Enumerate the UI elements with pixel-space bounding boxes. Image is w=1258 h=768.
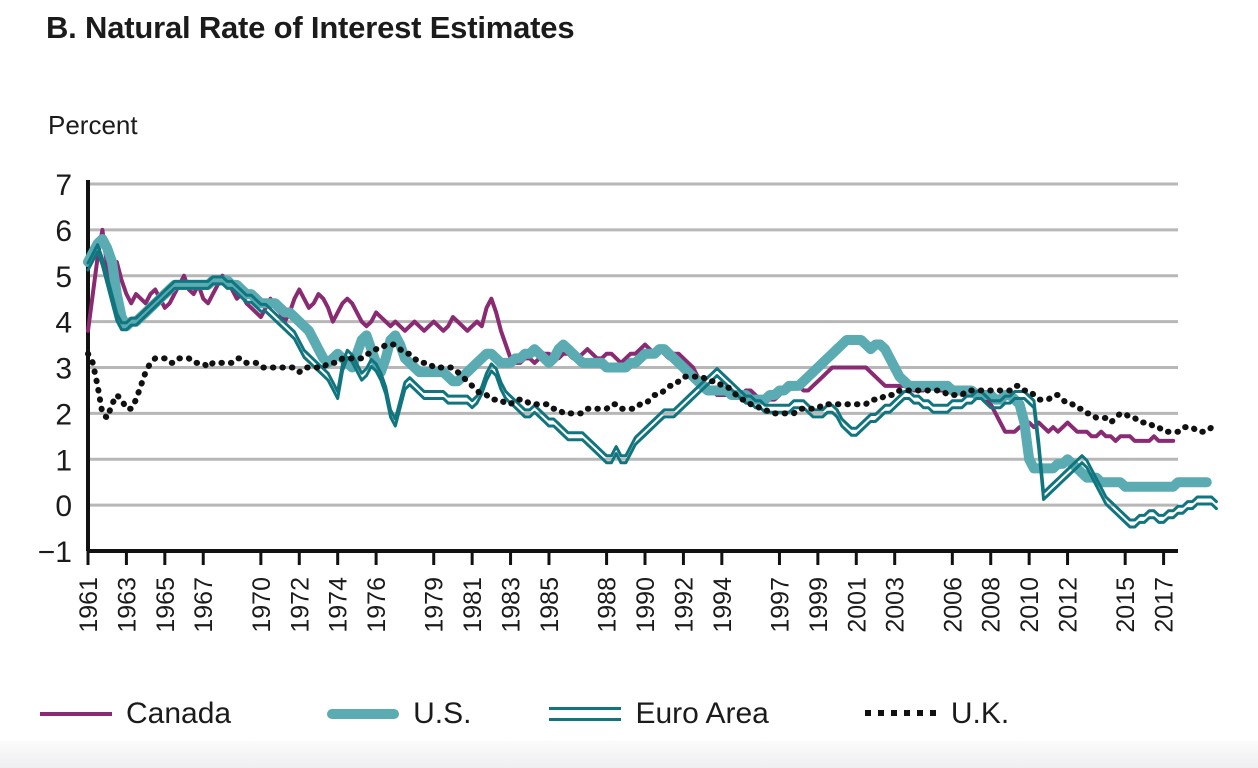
legend-swatch-us-icon xyxy=(327,701,399,727)
x-tick-label: 1970 xyxy=(248,577,276,633)
y-tick-label: −1 xyxy=(38,536,72,569)
x-tick-label: 2006 xyxy=(939,577,967,633)
x-tick-label: 1981 xyxy=(459,577,487,633)
x-tick-label: 2012 xyxy=(1055,577,1083,633)
legend-item-euro_area[interactable]: Euro Area xyxy=(549,697,768,731)
plot-area: −101234567196119631965196719701972197419… xyxy=(0,0,1258,741)
x-tick-label: 1961 xyxy=(75,577,103,633)
x-tick-label: 1965 xyxy=(152,577,180,633)
x-tick-label: 2015 xyxy=(1112,577,1140,633)
line-chart: −101234567196119631965196719701972197419… xyxy=(0,0,1258,700)
x-tick-label: 1994 xyxy=(709,577,737,633)
y-tick-label: 6 xyxy=(55,215,72,248)
legend-item-uk[interactable]: U.K. xyxy=(865,697,1009,731)
legend-label-euro_area: Euro Area xyxy=(635,697,768,731)
x-tick-label: 1983 xyxy=(498,577,526,633)
legend-label-canada: Canada xyxy=(126,697,231,731)
x-tick-label: 1976 xyxy=(363,577,391,633)
x-tick-label: 1997 xyxy=(766,577,794,633)
x-tick-label: 1985 xyxy=(536,577,564,633)
series-line xyxy=(88,245,1216,520)
y-tick-label: 2 xyxy=(55,398,72,431)
x-tick-label: 2003 xyxy=(882,577,910,633)
legend-swatch-uk-icon xyxy=(865,701,937,727)
legend-label-us: U.S. xyxy=(413,697,471,731)
x-tick-label: 1988 xyxy=(594,577,622,633)
legend-swatch-euro_area-icon xyxy=(549,701,621,727)
footer-strip xyxy=(0,741,1258,768)
x-tick-label: 1972 xyxy=(286,577,314,633)
y-tick-label: 7 xyxy=(55,169,72,202)
y-tick-label: 5 xyxy=(55,261,72,294)
x-tick-label: 1979 xyxy=(421,577,449,633)
x-tick-label: 2010 xyxy=(1016,577,1044,633)
x-tick-label: 2008 xyxy=(978,577,1006,633)
y-tick-label: 1 xyxy=(55,444,72,477)
legend-swatch-canada-icon xyxy=(40,701,112,727)
x-tick-label: 1963 xyxy=(113,577,141,633)
series-euro_area xyxy=(88,245,1216,527)
x-tick-label: 1992 xyxy=(670,577,698,633)
y-tick-label: 3 xyxy=(55,353,72,386)
chart-legend: CanadaU.S.Euro AreaU.K. xyxy=(40,686,1220,742)
x-tick-label: 2001 xyxy=(843,577,871,633)
y-tick-label: 4 xyxy=(55,307,72,340)
x-tick-label: 1967 xyxy=(190,577,218,633)
legend-item-us[interactable]: U.S. xyxy=(327,697,471,731)
legend-item-canada[interactable]: Canada xyxy=(40,697,231,731)
x-tick-label: 1990 xyxy=(632,577,660,633)
x-tick-label: 1974 xyxy=(325,577,353,633)
y-tick-label: 0 xyxy=(55,490,72,523)
x-tick-label: 1999 xyxy=(805,577,833,633)
legend-label-uk: U.K. xyxy=(951,697,1009,731)
x-tick-label: 2017 xyxy=(1151,577,1179,633)
chart-panel: B. Natural Rate of Interest Estimates Pe… xyxy=(0,0,1258,741)
